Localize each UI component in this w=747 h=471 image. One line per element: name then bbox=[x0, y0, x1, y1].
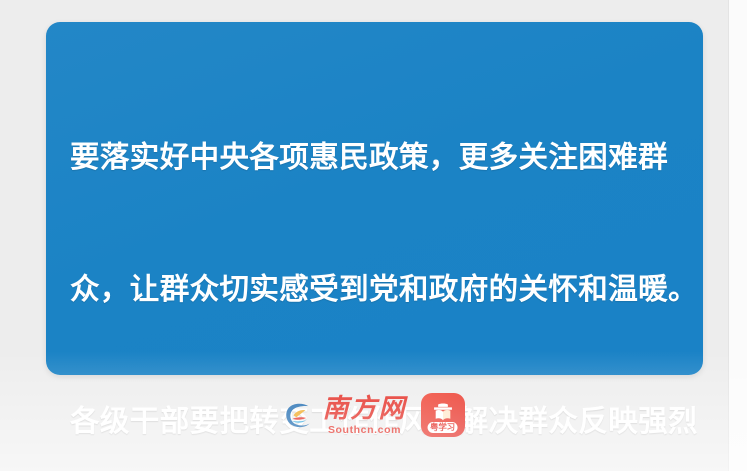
quote-line: 众，让群众切实感受到党和政府的关怀和温暖。 bbox=[70, 268, 677, 312]
poster-canvas: 要落实好中央各项惠民政策，更多关注困难群 众，让群众切实感受到党和政府的关怀和温… bbox=[0, 0, 747, 471]
southcn-wordmark: 南方网 Southcn.com bbox=[322, 395, 406, 436]
southcn-logo[interactable]: 南方网 Southcn.com bbox=[282, 392, 406, 438]
southcn-swirl-mark-icon bbox=[282, 398, 316, 432]
southcn-english-name: Southcn.com bbox=[328, 425, 401, 436]
quote-line: 要落实好中央各项惠民政策，更多关注困难群 bbox=[70, 136, 677, 180]
yuexuexi-caption: 粤学习 bbox=[427, 422, 458, 433]
yuexuexi-app-icon[interactable]: 粤学习 bbox=[421, 393, 465, 437]
southcn-chinese-name: 南方网 bbox=[322, 395, 406, 423]
footer-logo-row: 南方网 Southcn.com 粤学习 bbox=[0, 388, 747, 442]
quote-card: 要落实好中央各项惠民政策，更多关注困难群 众，让群众切实感受到党和政府的关怀和温… bbox=[46, 22, 703, 375]
